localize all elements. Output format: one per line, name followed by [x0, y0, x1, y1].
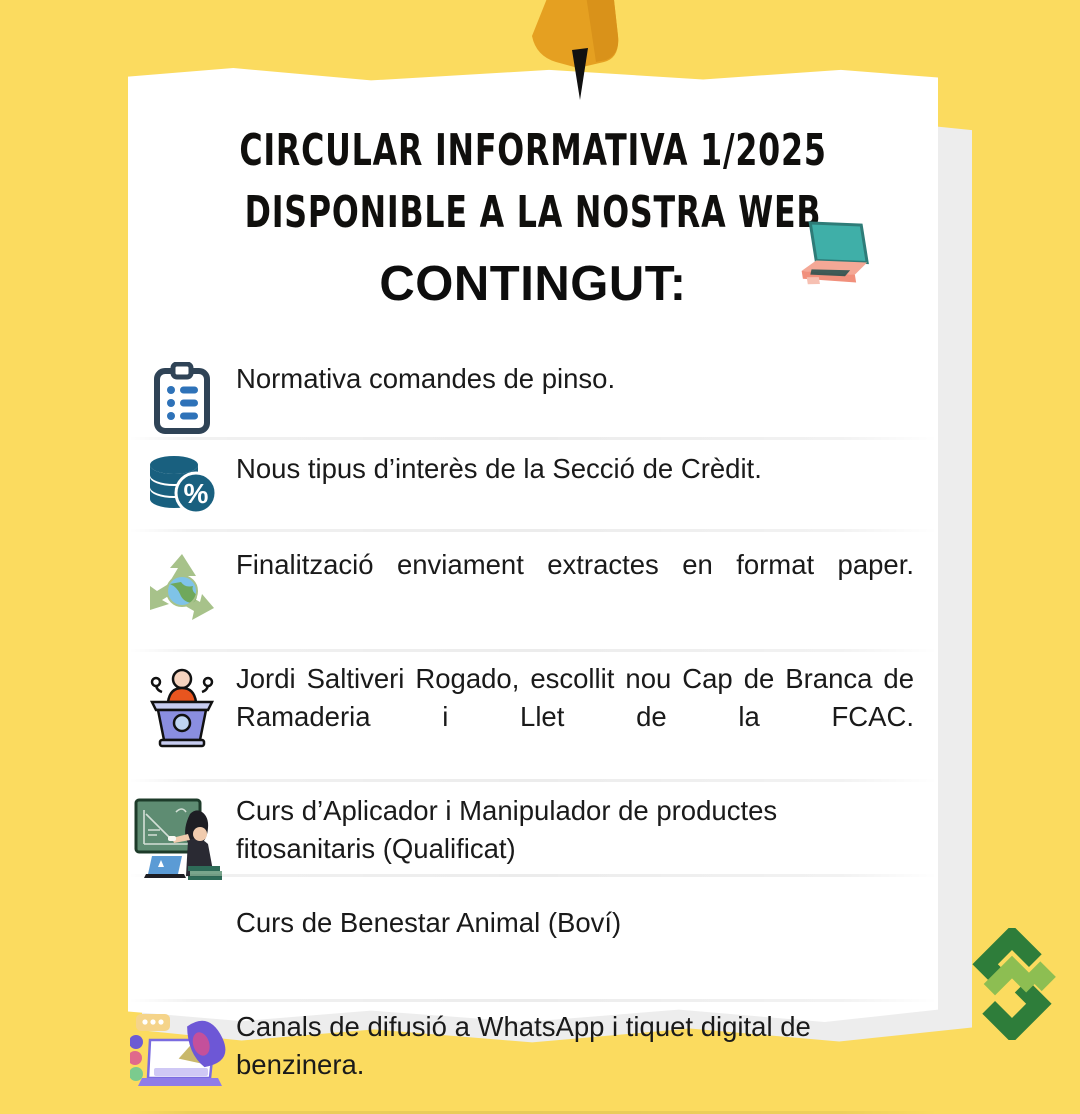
list-item-text: Nous tipus d’interès de la Secció de Crè… — [236, 450, 938, 488]
list-item: Jordi Saltiveri Rogado, escollit nou Cap… — [128, 646, 938, 774]
clipboard-checklist-icon — [128, 360, 236, 436]
list-item-group: Curs d’Aplicador i Manipulador de produc… — [128, 774, 938, 992]
list-item: % Nous tipus d’interès de la Secció de C… — [128, 436, 938, 530]
list-item: Normativa comandes de pinso. — [128, 360, 938, 436]
laptop-icon — [782, 208, 882, 308]
list-item-text: Canals de difusió a WhatsApp i tiquet di… — [236, 1008, 938, 1084]
content-list: Normativa comandes de pinso. % Nous tipu… — [128, 360, 938, 1104]
title-line-2: DISPONIBLE A LA NOSTRA WEB — [209, 182, 857, 244]
poster-canvas: CIRCULAR INFORMATIVA 1/2025 DISPONIBLE A… — [0, 0, 1080, 1080]
list-item-text: Finalització enviament extractes en form… — [236, 546, 938, 622]
list-item: Finalització enviament extractes en form… — [128, 530, 938, 646]
list-item-text: Curs de Benestar Animal (Boví) — [236, 904, 938, 942]
list-item-text: Curs d’Aplicador i Manipulador de produc… — [236, 792, 938, 868]
speaker-podium-icon — [128, 660, 236, 748]
coins-percent-icon: % — [128, 450, 236, 516]
megaphone-laptop-icon — [128, 1008, 236, 1092]
list-item-text: Jordi Saltiveri Rogado, escollit nou Cap… — [236, 660, 938, 774]
list-item: Canals de difusió a WhatsApp i tiquet di… — [128, 992, 938, 1104]
teacher-chalkboard-icon — [128, 792, 236, 884]
recycle-globe-icon — [128, 546, 236, 628]
title-line-1: CIRCULAR INFORMATIVA 1/2025 — [209, 120, 857, 182]
pushpin-icon — [500, 0, 640, 112]
list-item-text: Normativa comandes de pinso. — [236, 360, 938, 398]
svg-text:%: % — [184, 478, 209, 509]
cooperative-logo — [956, 928, 1068, 1040]
